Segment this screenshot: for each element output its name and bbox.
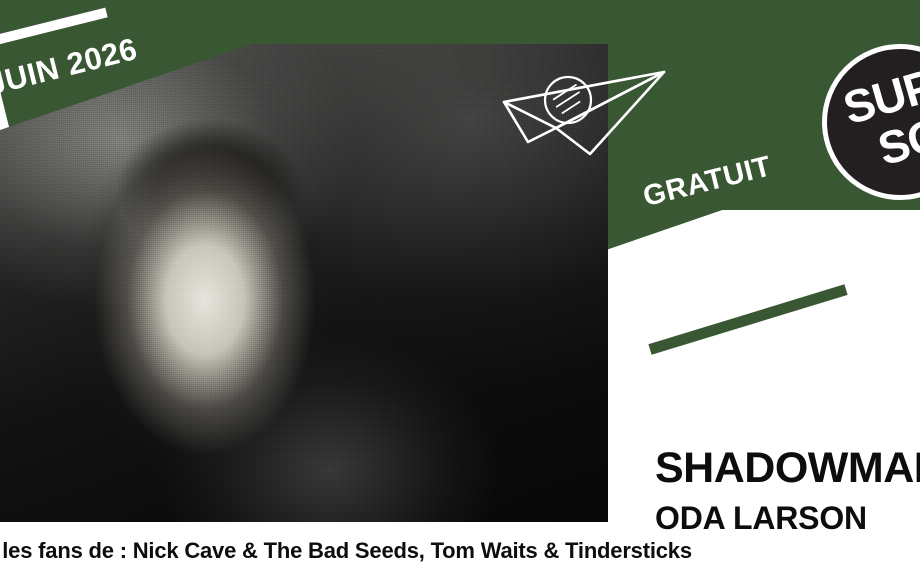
supersonic-badge-icon: [552, 85, 584, 114]
headline-artist: SHADOWMAN: [655, 444, 920, 493]
green-diagonal-rule: [648, 284, 847, 354]
support-artist: ODA LARSON: [655, 500, 867, 537]
paper-plane-icon: [498, 56, 670, 160]
event-poster: JUIN 2026 GRATUIT SUPER SON SHADOWMAN OD…: [0, 0, 920, 575]
for-fans-of-line: r les fans de : Nick Cave & The Bad Seed…: [0, 538, 692, 564]
supersonic-logo-text: SUPER SON: [839, 47, 920, 178]
